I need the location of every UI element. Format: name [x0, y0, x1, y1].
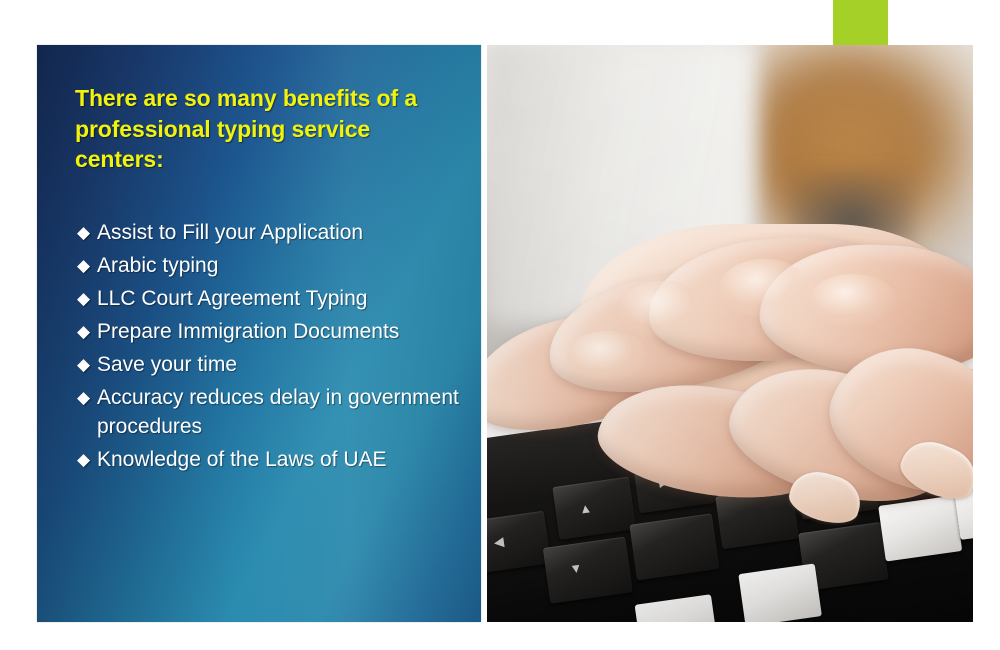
list-item: ◆ Prepare Immigration Documents [77, 318, 459, 347]
diamond-bullet-icon: ◆ [77, 351, 97, 380]
list-item: ◆ Assist to Fill your Application [77, 219, 459, 248]
photo-hand [497, 195, 973, 553]
keyboard-arrow-down-icon: ▼ [569, 561, 584, 576]
list-item-label: Prepare Immigration Documents [97, 318, 459, 347]
list-item: ◆ Arabic typing [77, 252, 459, 281]
benefits-list: ◆ Assist to Fill your Application ◆ Arab… [75, 219, 459, 475]
diamond-bullet-icon: ◆ [77, 219, 97, 248]
diamond-bullet-icon: ◆ [77, 285, 97, 314]
list-item: ◆ LLC Court Agreement Typing [77, 285, 459, 314]
list-item: ◆ Save your time [77, 351, 459, 380]
list-item-label: Arabic typing [97, 252, 459, 281]
list-item-label: LLC Court Agreement Typing [97, 285, 459, 314]
list-item-label: Save your time [97, 351, 459, 380]
list-item: ◆ Knowledge of the Laws of UAE [77, 446, 459, 475]
content-panel: There are so many benefits of a professi… [37, 45, 481, 622]
panel-inner: There are so many benefits of a professi… [37, 45, 481, 474]
green-accent-bar [833, 0, 888, 45]
diamond-bullet-icon: ◆ [77, 252, 97, 281]
slide-title: There are so many benefits of a professi… [75, 83, 459, 175]
presentation-slide: There are so many benefits of a professi… [0, 0, 1000, 650]
list-item-label: Accuracy reduces delay in government pro… [97, 384, 459, 442]
hands-typing-on-keyboard-photo: ◀ ▲ ▼ ▶ [487, 45, 973, 622]
diamond-bullet-icon: ◆ [77, 384, 97, 413]
diamond-bullet-icon: ◆ [77, 318, 97, 347]
list-item-label: Assist to Fill your Application [97, 219, 459, 248]
list-item: ◆ Accuracy reduces delay in government p… [77, 384, 459, 442]
list-item-label: Knowledge of the Laws of UAE [97, 446, 459, 475]
diamond-bullet-icon: ◆ [77, 446, 97, 475]
